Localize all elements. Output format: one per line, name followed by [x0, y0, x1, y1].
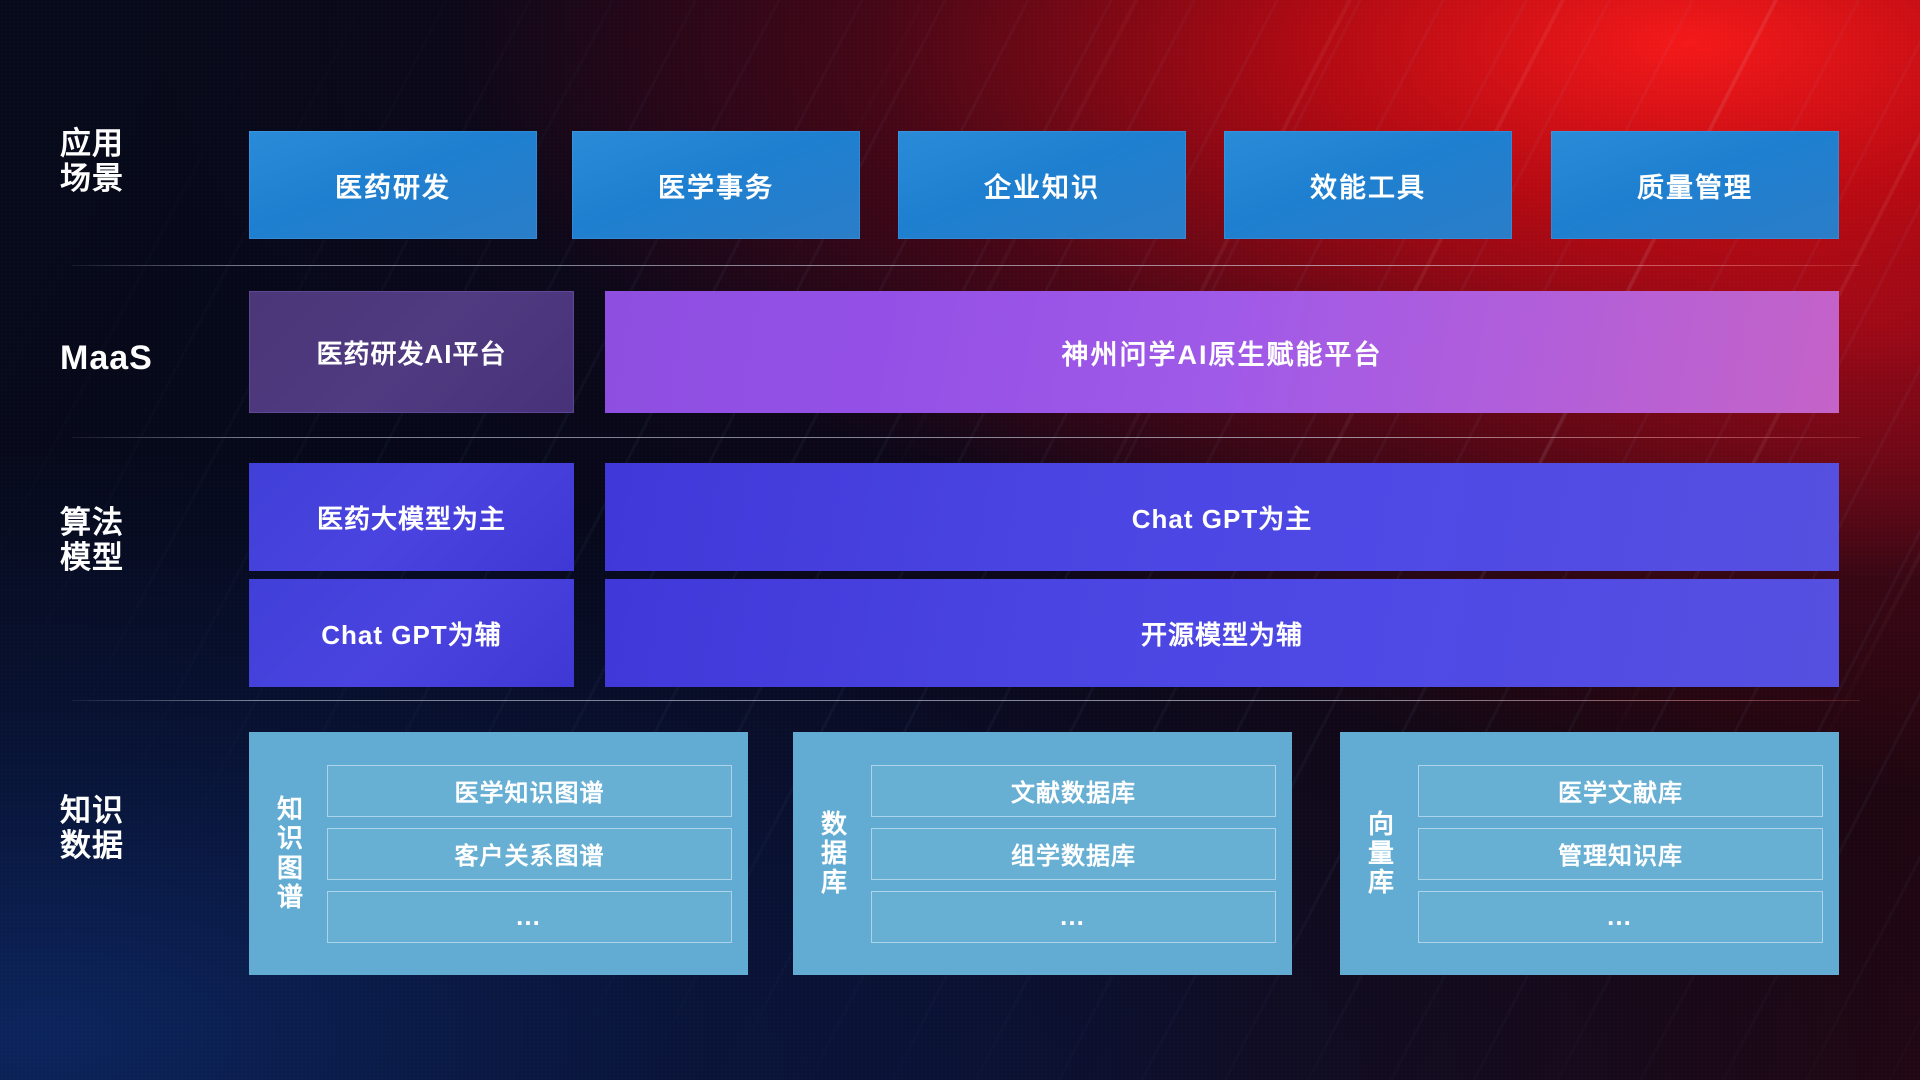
knowledge-item[interactable]: 医学知识图谱: [327, 765, 732, 817]
knowledge-panel-title: 数 据 库: [807, 748, 861, 959]
scenario-card-1[interactable]: 医药研发: [249, 131, 537, 239]
knowledge-item-more[interactable]: …: [327, 891, 732, 943]
knowledge-item-more[interactable]: …: [871, 891, 1276, 943]
knowledge-panel-vector-store: 向 量 库 医学文献库 管理知识库 …: [1340, 732, 1839, 975]
row-label-knowledge-data: 知识 数据: [60, 793, 210, 864]
knowledge-panel-title-char: 知: [277, 795, 303, 824]
knowledge-panel-title-char: 库: [1368, 868, 1394, 897]
row-label-line: 应用: [60, 126, 210, 161]
knowledge-panel-title: 向 量 库: [1354, 748, 1408, 959]
scenario-card-3[interactable]: 企业知识: [898, 131, 1186, 239]
scenario-card-4[interactable]: 效能工具: [1224, 131, 1512, 239]
row-label-application-scenarios: 应用 场景: [60, 126, 210, 197]
algorithm-card-row2-left[interactable]: Chat GPT为辅: [249, 579, 574, 687]
row-label-line: MaaS: [60, 339, 210, 378]
maas-platform-card-left[interactable]: 医药研发AI平台: [249, 291, 574, 413]
divider-1: [72, 265, 1860, 266]
row-label-algorithm-models: 算法 模型: [60, 505, 210, 576]
row-label-line: 场景: [60, 161, 210, 196]
row-label-maas: MaaS: [60, 339, 210, 378]
knowledge-panel-database: 数 据 库 文献数据库 组学数据库 …: [793, 732, 1292, 975]
algorithm-card-row1-right[interactable]: Chat GPT为主: [605, 463, 1839, 571]
row-label-line: 模型: [60, 540, 210, 575]
knowledge-panel-title-char: 图: [277, 854, 303, 883]
row-label-line: 算法: [60, 505, 210, 540]
knowledge-panel-title-char: 谱: [277, 883, 303, 912]
divider-3: [72, 700, 1860, 701]
knowledge-item[interactable]: 客户关系图谱: [327, 828, 732, 880]
knowledge-panel-title-char: 数: [821, 810, 847, 839]
knowledge-panel-title-char: 向: [1368, 810, 1394, 839]
knowledge-item[interactable]: 文献数据库: [871, 765, 1276, 817]
knowledge-item[interactable]: 管理知识库: [1418, 828, 1823, 880]
knowledge-panel-knowledge-graph: 知 识 图 谱 医学知识图谱 客户关系图谱 …: [249, 732, 748, 975]
maas-platform-card-right[interactable]: 神州问学AI原生赋能平台: [605, 291, 1839, 413]
slide-canvas: 应用 场景 医药研发 医学事务 企业知识 效能工具 质量管理 MaaS 医药研发…: [0, 0, 1920, 1080]
row-label-line: 知识: [60, 793, 210, 828]
knowledge-item[interactable]: 组学数据库: [871, 828, 1276, 880]
knowledge-panel-title-char: 据: [821, 839, 847, 868]
algorithm-card-row1-left[interactable]: 医药大模型为主: [249, 463, 574, 571]
knowledge-panel-title-char: 量: [1368, 839, 1394, 868]
algorithm-card-row2-right[interactable]: 开源模型为辅: [605, 579, 1839, 687]
row-label-line: 数据: [60, 828, 210, 863]
divider-2: [72, 437, 1860, 438]
scenario-card-5[interactable]: 质量管理: [1551, 131, 1839, 239]
knowledge-panel-title-char: 库: [821, 868, 847, 897]
knowledge-panel-title: 知 识 图 谱: [263, 748, 317, 959]
scenario-card-2[interactable]: 医学事务: [572, 131, 860, 239]
knowledge-panel-title-char: 识: [277, 824, 303, 853]
knowledge-item-more[interactable]: …: [1418, 891, 1823, 943]
knowledge-item[interactable]: 医学文献库: [1418, 765, 1823, 817]
